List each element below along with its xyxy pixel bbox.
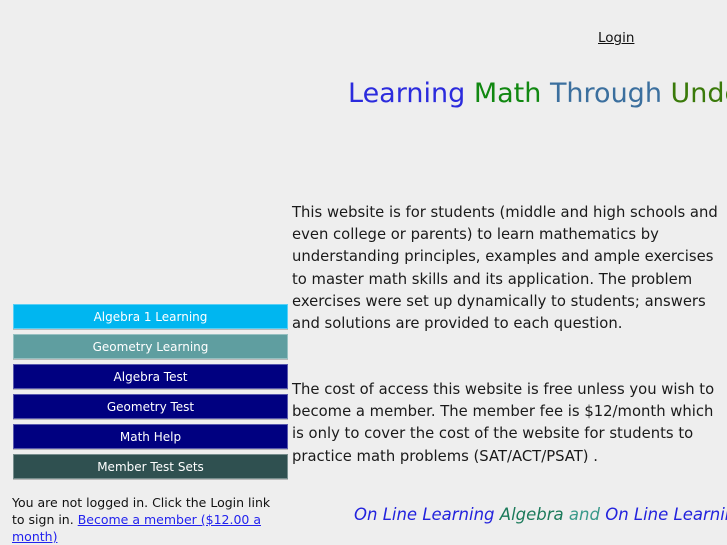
page-title-part-0: Learning bbox=[348, 78, 474, 109]
online-learning-link-part-1[interactable]: Algebra bbox=[500, 505, 569, 524]
online-learning-links: On Line Learning Algebra and On Line Lea… bbox=[292, 502, 720, 527]
sidebar: Algebra 1 LearningGeometry LearningAlgeb… bbox=[0, 0, 292, 545]
sidebar-button-geometry-learning[interactable]: Geometry Learning bbox=[13, 334, 288, 359]
main-content: Learning Math Through Understanding Prin… bbox=[292, 0, 727, 545]
pricing-paragraph: The cost of access this website is free … bbox=[292, 379, 720, 468]
page-title-part-3: Understanding bbox=[671, 78, 727, 109]
sidebar-button-math-help[interactable]: Math Help bbox=[13, 424, 288, 449]
page-title: Learning Math Through Understanding Prin… bbox=[292, 76, 719, 112]
sidebar-button-member-test-sets[interactable]: Member Test Sets bbox=[13, 454, 288, 479]
online-learning-link-part-0[interactable]: On Line Learning bbox=[354, 505, 500, 524]
page-title-part-1: Math bbox=[474, 78, 550, 109]
sidebar-button-algebra-1-learning[interactable]: Algebra 1 Learning bbox=[13, 304, 288, 329]
online-learning-link-part-2[interactable]: and bbox=[569, 505, 605, 524]
page-title-part-2: Through bbox=[550, 78, 671, 109]
online-learning-link-part-3[interactable]: On Line Learning bbox=[605, 505, 727, 524]
intro-paragraph: This website is for students (middle and… bbox=[292, 202, 720, 335]
sidebar-button-algebra-test[interactable]: Algebra Test bbox=[13, 364, 288, 389]
login-status-text: You are not logged in. Click the Login l… bbox=[12, 494, 284, 545]
sidebar-button-geometry-test[interactable]: Geometry Test bbox=[13, 394, 288, 419]
sidebar-nav-menu: Algebra 1 LearningGeometry LearningAlgeb… bbox=[13, 304, 288, 484]
